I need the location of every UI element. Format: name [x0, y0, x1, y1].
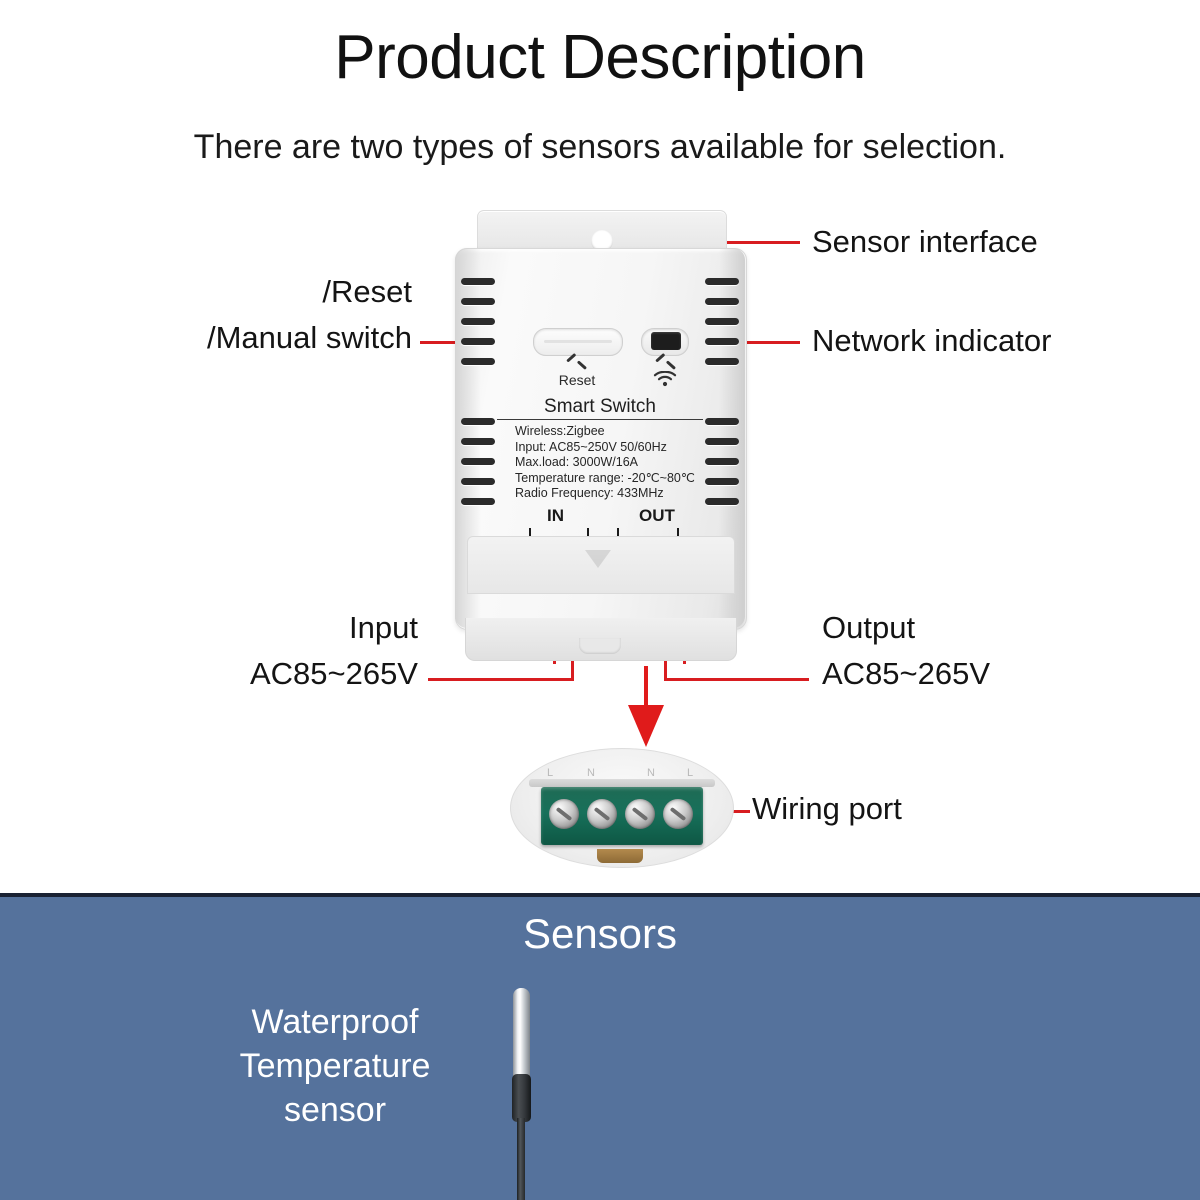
sensors-section-title: Sensors [0, 910, 1200, 958]
annotation-network-indicator: Network indicator [812, 321, 1051, 361]
device-brand-title: Smart Switch [497, 396, 703, 420]
device-base-notch [579, 638, 621, 654]
page-title: Product Description [0, 22, 1200, 93]
port-terminal-label: L [687, 767, 693, 779]
spec-line: Input: AC85~250V 50/60Hz [515, 440, 735, 456]
terminal-screw[interactable] [663, 799, 693, 829]
annotation-sensor-interface: Sensor interface [812, 222, 1038, 262]
port-terminal-label: N [587, 767, 595, 779]
manual-switch-groove [544, 340, 612, 343]
vent-slot [461, 358, 495, 365]
vent-slot [461, 478, 495, 485]
sensor-caption-line1: Waterproof [170, 1000, 500, 1044]
vent-slot [461, 438, 495, 445]
vent-slot [705, 318, 739, 325]
terminal-screw[interactable] [587, 799, 617, 829]
warning-triangle-icon [585, 550, 611, 568]
port-terminal-label: N [647, 767, 655, 779]
port-terminal-label: L [547, 767, 553, 779]
vent-slot [461, 298, 495, 305]
annotation-reset-line2: /Manual switch [0, 318, 412, 358]
vent-slot [461, 418, 495, 425]
annotation-output-line1: Output [822, 608, 915, 648]
vent-slot [461, 458, 495, 465]
annotation-wiring-port: Wiring port [752, 789, 902, 829]
reset-label: Reset [543, 372, 611, 388]
annotation-input-line1: Input [0, 608, 418, 648]
manual-switch-button[interactable] [533, 328, 623, 356]
terminal-screw[interactable] [625, 799, 655, 829]
chevron-up-icon [567, 360, 585, 370]
sensor-caption-line3: sensor [170, 1088, 500, 1132]
spec-line: Temperature range: -20℃~80℃ [515, 471, 735, 487]
wiring-port-oval: L N N L [510, 748, 734, 868]
terminal-block [541, 787, 703, 845]
temperature-probe-sleeve [512, 1074, 531, 1122]
wiring-port-rail [529, 779, 715, 787]
vent-slot [461, 318, 495, 325]
spec-line: Wireless:Zigbee [515, 424, 735, 440]
wiring-port-closeup: L N N L [510, 748, 732, 866]
spec-line: Radio Frequency: 433MHz [515, 486, 735, 502]
chevron-up-icon [656, 360, 674, 370]
sensor-caption-line2: Temperature [170, 1044, 500, 1088]
vent-slot [461, 338, 495, 345]
vent-slot [705, 338, 739, 345]
vent-slot [705, 298, 739, 305]
annotation-input-line2: AC85~265V [0, 654, 418, 694]
vent-slot [461, 498, 495, 505]
leader-output-horizontal [664, 678, 809, 681]
spec-line: Max.load: 3000W/16A [515, 455, 735, 471]
vent-slot [705, 278, 739, 285]
device-spec-list: Wireless:Zigbee Input: AC85~250V 50/60Hz… [515, 424, 735, 502]
wifi-icon [653, 371, 677, 387]
network-indicator-led [651, 332, 681, 350]
temperature-probe-cable [517, 1118, 525, 1200]
temperature-probe-tip [513, 988, 530, 1080]
flow-arrow-head [628, 705, 664, 747]
port-bottom-tab [597, 849, 643, 863]
vent-slot [705, 358, 739, 365]
sensor-caption: Waterproof Temperature sensor [170, 1000, 500, 1132]
leader-input-horizontal [428, 678, 573, 681]
annotation-reset-line1: /Reset [0, 272, 412, 312]
terminal-in-caption: IN [547, 506, 564, 526]
vent-slot [461, 278, 495, 285]
product-description-page: Product Description There are two types … [0, 0, 1200, 1200]
page-subtitle: There are two types of sensors available… [0, 128, 1200, 167]
smart-switch-device: Reset Smart Switch Wireless:Zigbee Input… [455, 210, 745, 670]
terminal-screw[interactable] [549, 799, 579, 829]
terminal-out-caption: OUT [639, 506, 675, 526]
annotation-output-line2: AC85~265V [822, 654, 990, 694]
